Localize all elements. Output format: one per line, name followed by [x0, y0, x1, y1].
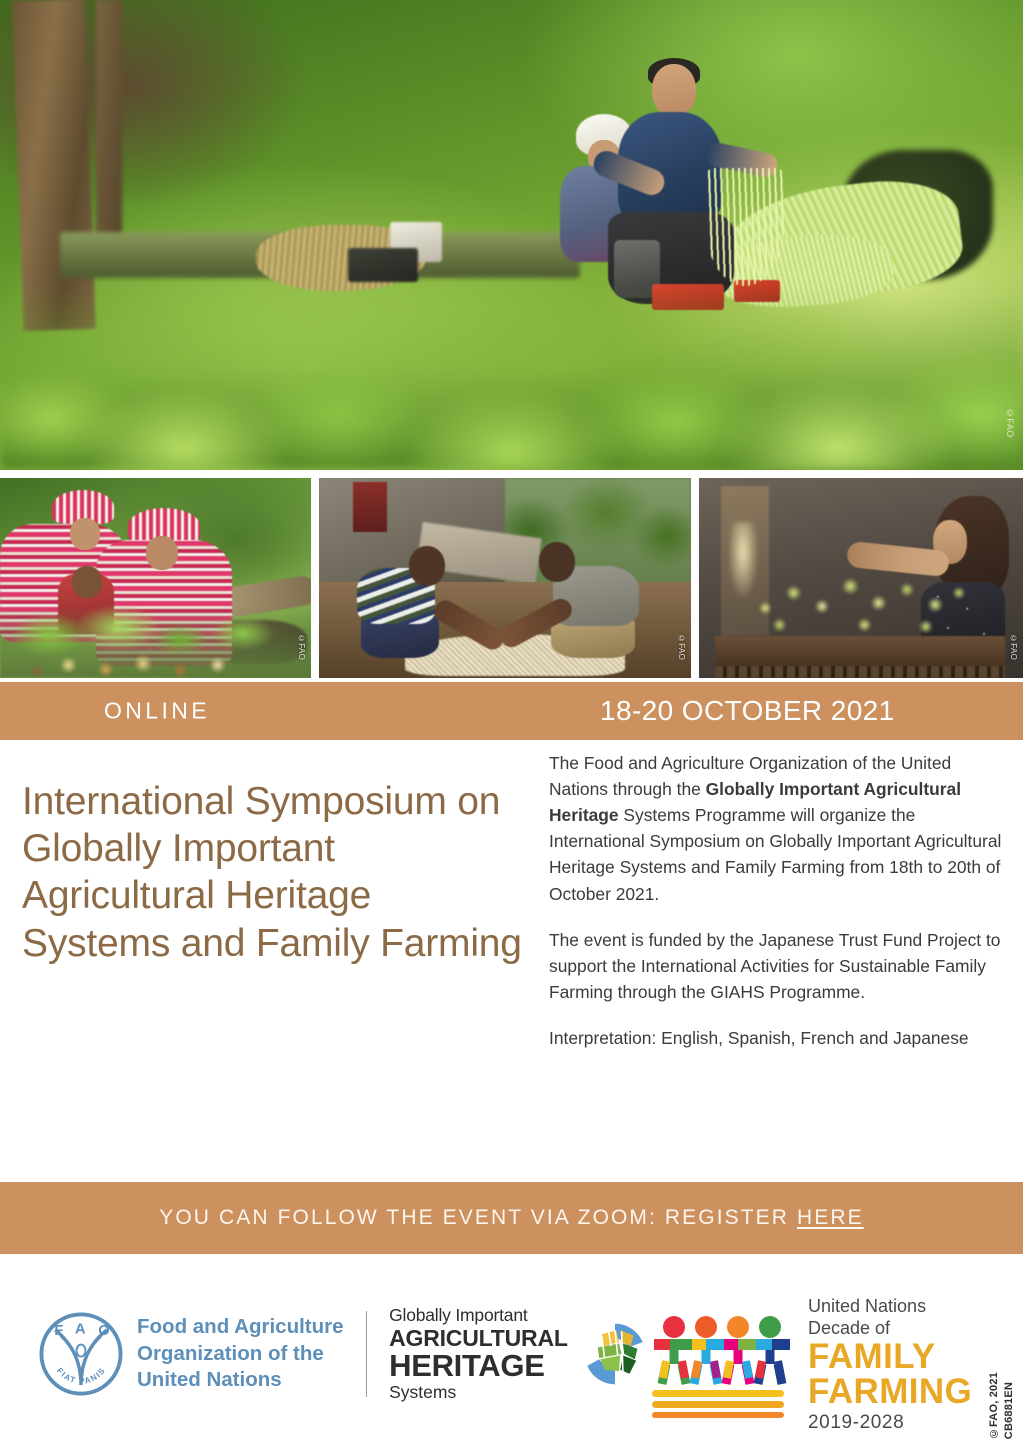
hero-tree-trunk-secondary: [96, 0, 122, 250]
paragraph-funding: The event is funded by the Japanese Trus…: [549, 927, 1011, 1005]
hero-watermark: ©FAO: [1005, 408, 1015, 438]
family-farming-line-2: Decade of: [808, 1318, 972, 1340]
fao-text-line-2: Organization of the: [137, 1341, 344, 1368]
hero-foreground-foliage: [0, 285, 1023, 470]
page-title: International Symposium on Globally Impo…: [22, 778, 522, 967]
main-content: International Symposium on Globally Impo…: [0, 740, 1023, 1170]
hero-tree-trunk: [12, 0, 95, 331]
paragraph-about: The Food and Agriculture Organization of…: [549, 750, 1011, 907]
logo-divider: [366, 1311, 368, 1397]
fao-emblem-icon: F A O FIAT PANIS: [38, 1311, 124, 1397]
family-farming-figures-icon: [652, 1314, 792, 1418]
family-farming-line-3: FAMILY: [808, 1339, 972, 1374]
copyright-block: ©FAO, 2021 CB6881EN: [988, 1372, 1015, 1439]
logo-row-left: F A O FIAT PANIS Food and Agriculture Or…: [38, 1306, 648, 1402]
giahs-landscape-icon: [582, 1321, 648, 1387]
family-farming-line-1: United Nations: [808, 1296, 972, 1318]
andean-vegetable-spread: [0, 606, 311, 678]
fao-text-line-3: United Nations: [137, 1367, 344, 1394]
giahs-text-line-4: Systems: [389, 1382, 568, 1402]
grain-watermark: ©FAO: [677, 634, 686, 660]
andean-child-head: [72, 566, 102, 598]
description-column: The Food and Agriculture Organization of…: [549, 750, 1011, 1051]
giahs-text-line-3: HERITAGE: [389, 1350, 568, 1382]
grape-wooden-slats: [715, 666, 1005, 678]
andean-watermark: ©FAO: [297, 634, 306, 660]
zoom-registration-text: YOU CAN FOLLOW THE EVENT VIA ZOOM: REGIS…: [159, 1206, 863, 1230]
svg-text:O: O: [98, 1323, 109, 1339]
giahs-logo: Globally Important AGRICULTURAL HERITAGE…: [389, 1306, 648, 1402]
andean-face-left: [70, 518, 100, 550]
hero-dark-box: [348, 248, 418, 282]
footer-logos: F A O FIAT PANIS Food and Agriculture Or…: [0, 1254, 1023, 1447]
copyright-text: ©FAO, 2021: [988, 1372, 1000, 1439]
banner-date-label: 18-20 OCTOBER 2021: [600, 695, 895, 727]
fao-logo-text: Food and Agriculture Organization of the…: [137, 1314, 344, 1394]
fao-text-line-1: Food and Agriculture: [137, 1314, 344, 1341]
family-farming-line-4: FARMING: [808, 1374, 972, 1409]
photo-grape-harvest: ©FAO: [699, 478, 1023, 678]
document-code: CB6881EN: [1003, 1372, 1015, 1439]
grain-red-door: [353, 482, 387, 532]
giahs-logo-text: Globally Important AGRICULTURAL HERITAGE…: [389, 1306, 568, 1402]
grain-man-gray-head: [539, 542, 575, 582]
giahs-text-line-2: AGRICULTURAL: [389, 1326, 568, 1350]
register-here-link[interactable]: HERE: [797, 1206, 864, 1229]
svg-text:A: A: [75, 1321, 86, 1337]
event-banner: ONLINE 18-20 OCTOBER 2021: [0, 682, 1023, 740]
zoom-registration-bar[interactable]: YOU CAN FOLLOW THE EVENT VIA ZOOM: REGIS…: [0, 1182, 1023, 1254]
andean-face-right: [146, 536, 178, 570]
grape-watermark: ©FAO: [1009, 634, 1018, 660]
photo-strip: ©FAO ©FAO ©FAO: [0, 478, 1023, 678]
giahs-text-line-1: Globally Important: [389, 1306, 568, 1326]
family-farming-logo: United Nations Decade of FAMILY FARMING …: [652, 1296, 972, 1436]
banner-online-label: ONLINE: [104, 698, 210, 725]
fao-logo: F A O FIAT PANIS Food and Agriculture Or…: [38, 1311, 344, 1397]
hero-harvested-plants: [706, 168, 784, 286]
paragraph-interpretation: Interpretation: English, Spanish, French…: [549, 1025, 1011, 1051]
grain-man-striped-head: [409, 546, 445, 586]
grape-cluster-pile: [737, 556, 973, 640]
photo-andean-family: ©FAO: [0, 478, 311, 678]
grain-man-striped: [357, 536, 453, 640]
svg-text:F: F: [54, 1323, 63, 1339]
family-farming-years: 2019-2028: [808, 1411, 972, 1436]
zoom-registration-prefix: YOU CAN FOLLOW THE EVENT VIA ZOOM: REGIS…: [159, 1206, 797, 1229]
photo-drying-grain: ©FAO: [319, 478, 691, 678]
hero-photo: ©FAO: [0, 0, 1023, 470]
family-farming-logo-text: United Nations Decade of FAMILY FARMING …: [808, 1296, 972, 1436]
grain-man-gray: [533, 532, 639, 642]
grape-wooden-trough: [715, 636, 1005, 670]
hero-farmer-man-head: [652, 64, 696, 116]
